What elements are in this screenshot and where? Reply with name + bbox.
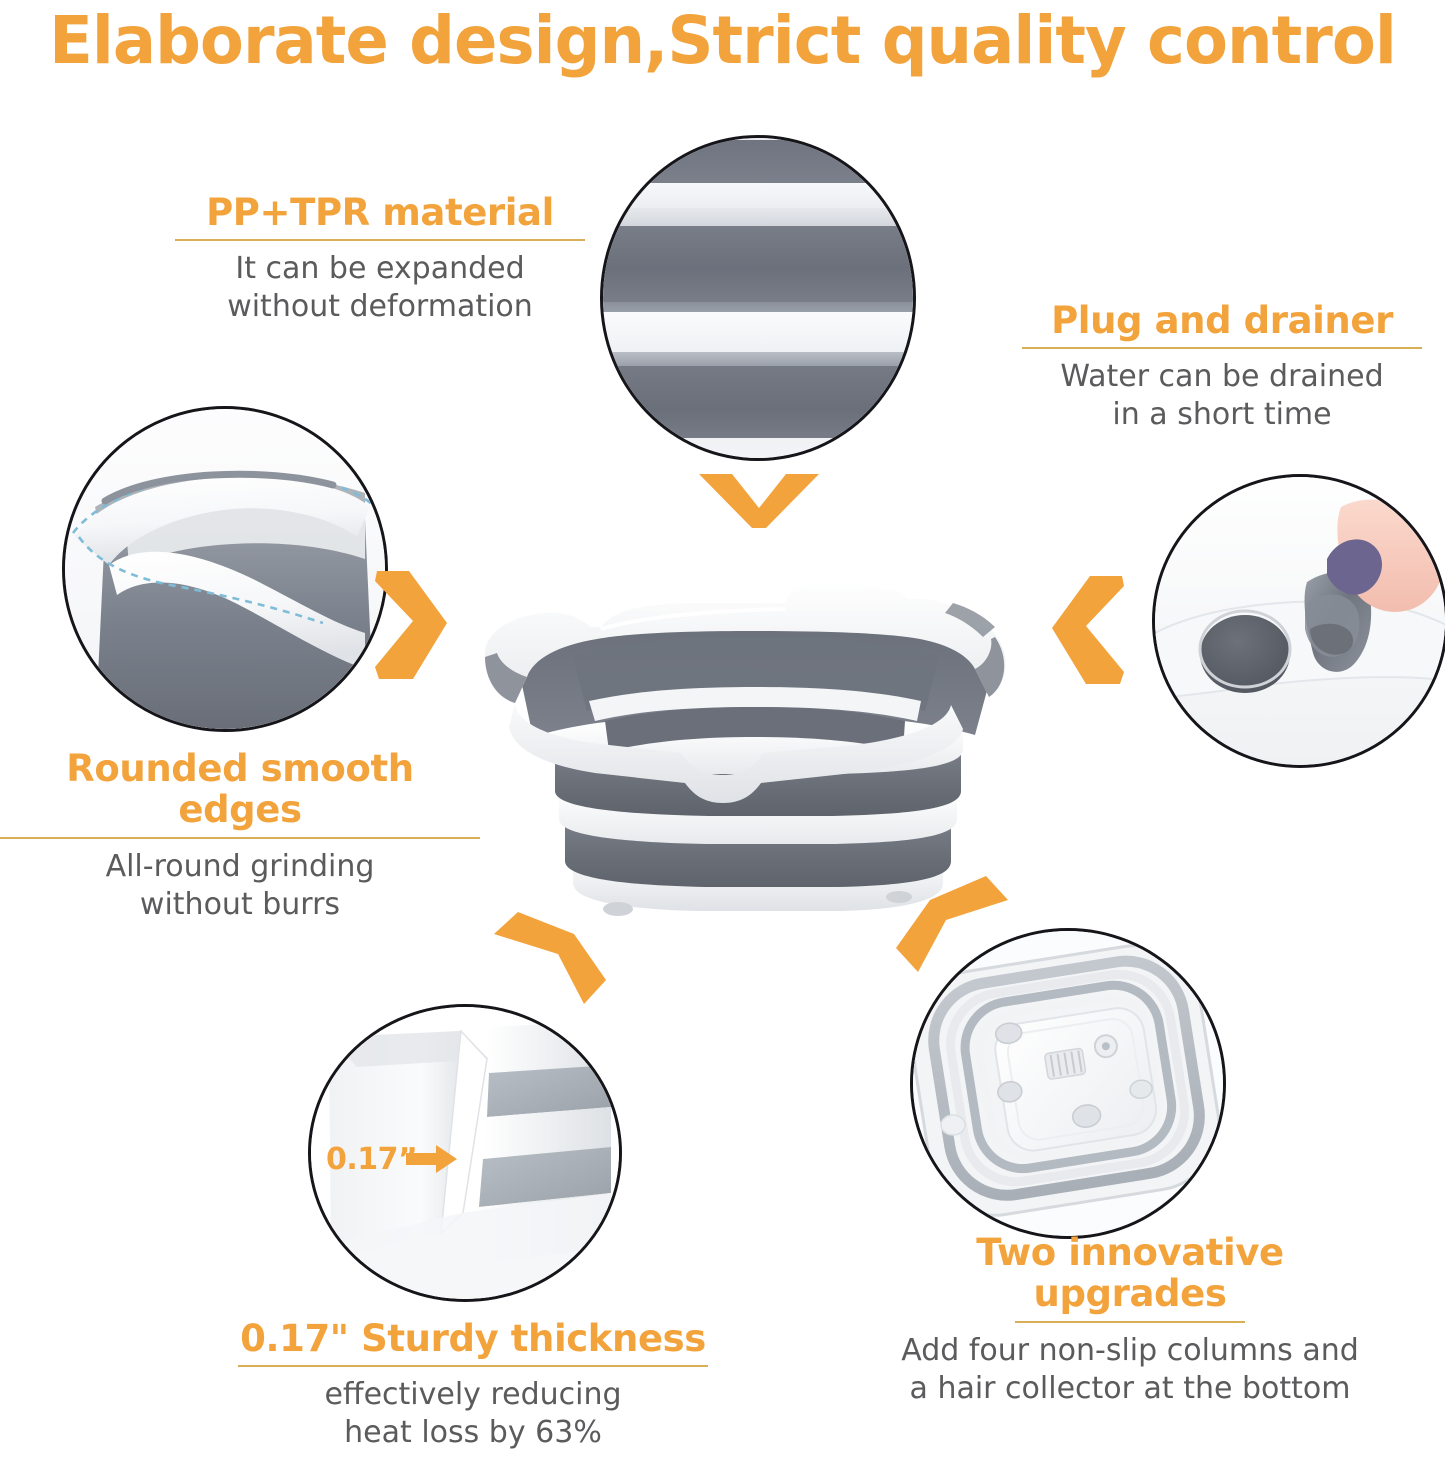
rim-edge-svg [65,409,385,729]
feature-sturdy-thickness: 0.17" Sturdy thickness effectively reduc… [238,1318,708,1452]
chevron-right-icon [373,567,453,687]
stripe-band [603,366,913,438]
stripe-band [603,352,913,366]
stripe-band [603,226,913,301]
chevron-left-icon [1046,572,1126,692]
heading-underline [1015,1321,1245,1323]
stripe-band [603,312,913,351]
chevron-up-right-icon [488,906,614,1016]
rim-edge-image [65,409,385,729]
material-stripes-photo [600,135,916,461]
basin-bottom-panel [987,1002,1159,1154]
chevron-down-icon [694,470,824,532]
stripe-band [603,208,913,226]
feature-subtitle: Water can be drained in a short time [1022,358,1422,434]
arrow-down-to-product [694,470,824,532]
stripe-band [603,183,913,208]
drain-hole [1200,615,1290,693]
drain-plug-photo [1152,474,1445,768]
feature-subtitle: Add four non-slip columns and a hair col… [890,1332,1370,1408]
arrow-right-to-product [373,567,453,687]
stripe-band [603,140,913,183]
heading-underline [238,1365,708,1367]
feature-heading: Rounded smooth edges [0,748,480,831]
drain-plug-svg [1155,477,1445,765]
page-title: Elaborate design,Strict quality control [22,2,1424,79]
feature-rounded-smooth-edges: Rounded smooth edges All-round grinding … [0,748,480,923]
rim-edge-photo [62,406,388,732]
material-stripes-image [603,138,913,458]
bottom-upgrades-svg [913,931,1223,1236]
feature-heading: Plug and drainer [1022,300,1422,341]
heading-underline [175,239,585,241]
feature-two-innovative-upgrades: Two innovative upgrades Add four non-sli… [890,1232,1370,1407]
bottom-upgrades-photo [910,928,1226,1239]
feature-subtitle: All-round grinding without burrs [0,848,480,924]
feature-heading: Two innovative upgrades [890,1232,1370,1315]
thickness-measure-label: 0.17” [326,1142,417,1177]
feature-subtitle: effectively reducing heat loss by 63% [238,1376,708,1452]
non-slip-column [941,1115,965,1135]
drain-plug-image [1155,477,1445,765]
bellows-band [487,1021,611,1073]
infographic-page: Elaborate design,Strict quality control … [0,0,1445,1464]
stripe-band [603,302,913,313]
feature-heading: PP+TPR material [175,192,585,233]
feature-pp-tpr-material: PP+TPR material It can be expanded witho… [175,192,585,326]
arrow-up-right-to-product [488,906,614,1016]
heading-underline [0,837,480,839]
bellows-stripe-group [603,138,913,458]
arrow-left-to-product [1046,572,1126,692]
bottom-upgrades-image [913,931,1223,1236]
heading-underline [1022,347,1422,349]
hair-collector [1044,1048,1086,1080]
feature-heading: 0.17" Sturdy thickness [238,1318,708,1359]
feature-plug-and-drainer: Plug and drainer Water can be drained in… [1022,300,1422,434]
stripe-band [603,438,913,458]
feature-subtitle: It can be expanded without deformation [175,250,585,326]
